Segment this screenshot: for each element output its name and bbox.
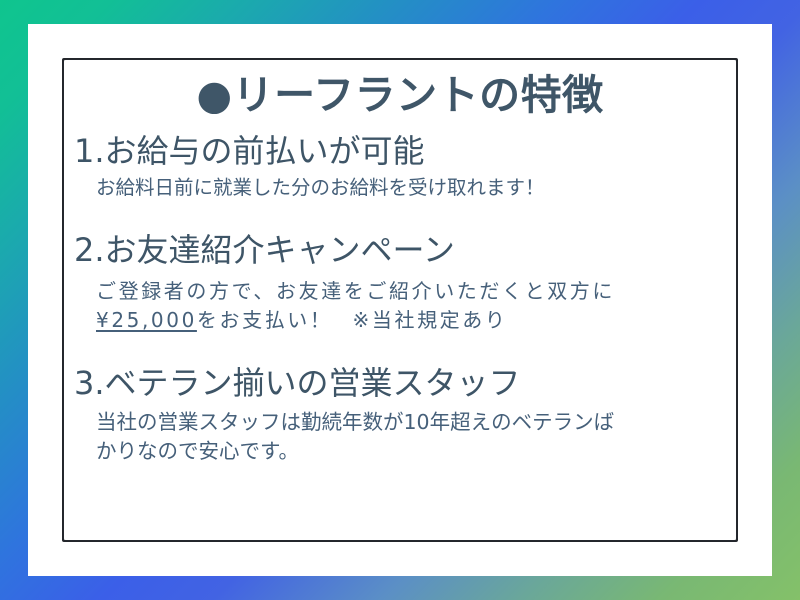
poster-content: ●リーフラントの特徴 1.お給与の前払いが可能 お給料日前に就業した分のお給料を… [74,68,726,532]
referral-note: ※当社規定あり [353,308,508,332]
feature-item-2: 2.お友達紹介キャンペーン ご登録者の方で、お友達をご紹介いただくと双方に ¥2… [74,232,726,335]
referral-amount: ¥25,000 [96,308,197,332]
feature-item-1: 1.お給与の前払いが可能 お給料日前に就業した分のお給料を受け取れます！ [74,133,726,202]
white-card: ●リーフラントの特徴 1.お給与の前払いが可能 お給料日前に就業した分のお給料を… [28,24,772,576]
feature-3-line-1: 当社の営業スタッフは勤続年数が10年超えのベテランば [96,408,726,438]
page-title: ●リーフラントの特徴 [74,74,726,117]
feature-1-body: お給料日前に就業した分のお給料を受け取れます！ [96,174,726,202]
feature-item-3: 3.ベテラン揃いの営業スタッフ 当社の営業スタッフは勤続年数が10年超えのベテラ… [74,365,726,467]
feature-3-body: 当社の営業スタッフは勤続年数が10年超えのベテランば かりなので安心です。 [96,408,726,467]
feature-2-heading: 2.お友達紹介キャンペーン [74,232,726,269]
feature-3-heading: 3.ベテラン揃いの営業スタッフ [74,365,726,402]
feature-2-line-1: ご登録者の方で、お友達をご紹介いただくと双方に [96,277,726,306]
referral-amount-suffix: をお支払い！ [197,308,333,332]
feature-3-line-2: かりなので安心です。 [96,437,726,467]
feature-1-line-1: お給料日前に就業した分のお給料を受け取れます！ [96,174,726,202]
feature-2-line-2: ¥25,000をお支払い！※当社規定あり [96,306,726,335]
feature-1-heading: 1.お給与の前払いが可能 [74,133,726,170]
poster-root: ●リーフラントの特徴 1.お給与の前払いが可能 お給料日前に就業した分のお給料を… [0,0,800,600]
feature-2-body: ご登録者の方で、お友達をご紹介いただくと双方に ¥25,000をお支払い！※当社… [96,277,726,335]
